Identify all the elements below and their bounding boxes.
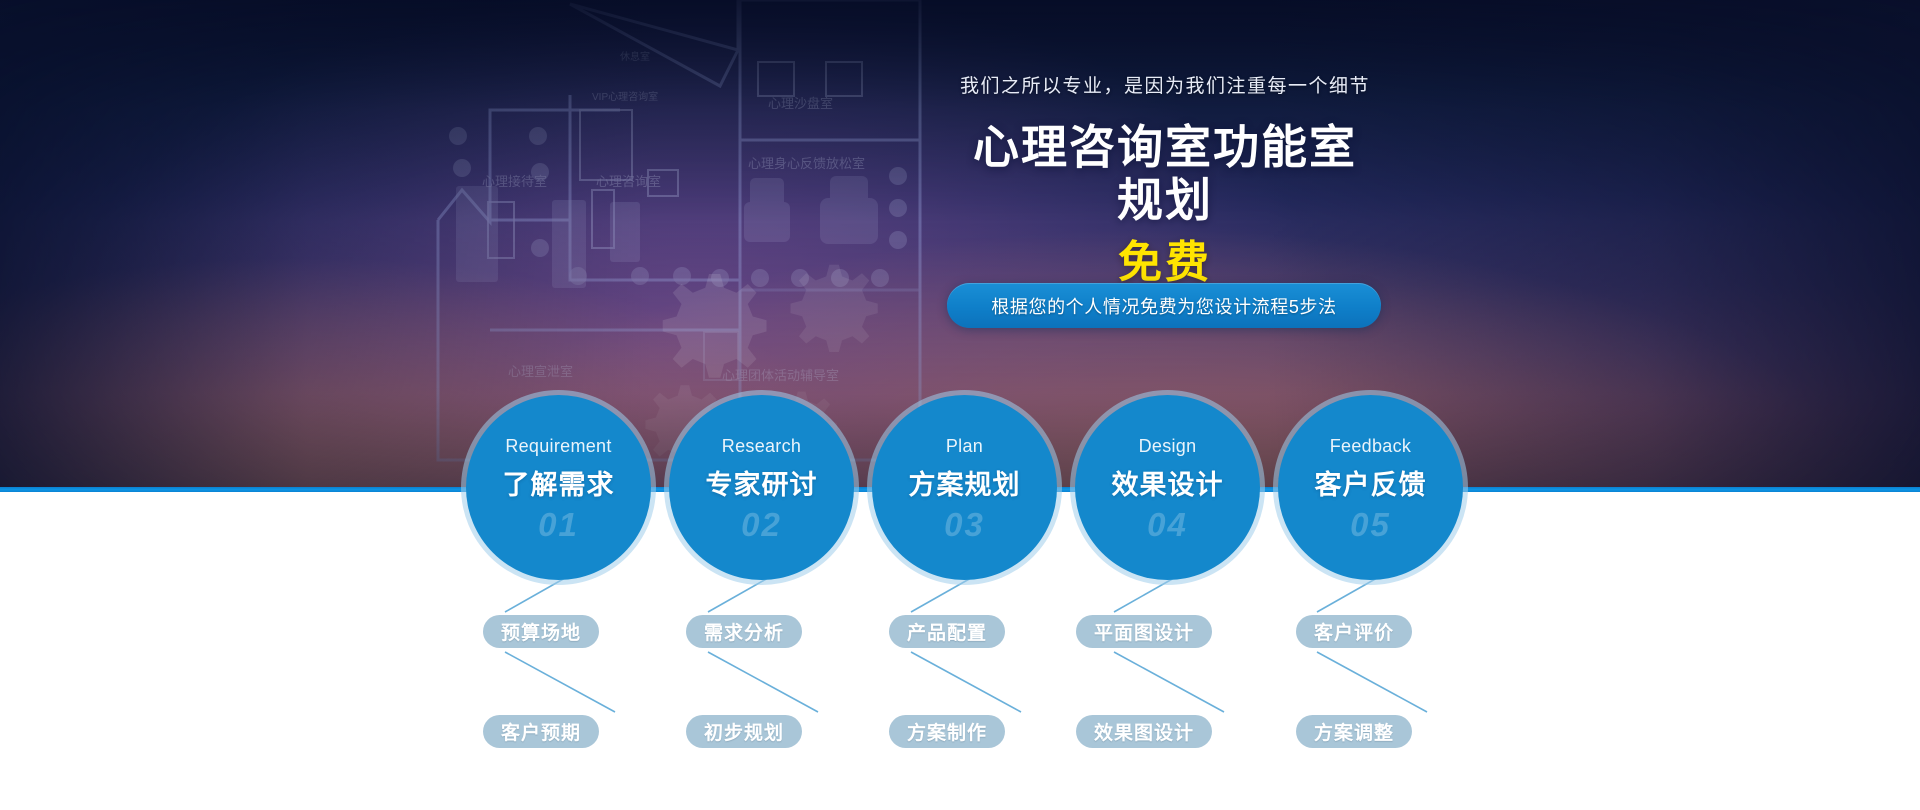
- step-en-label: Feedback: [1330, 436, 1411, 457]
- step-circle-2[interactable]: Research 专家研讨 02: [669, 395, 854, 580]
- step-4-tag-1[interactable]: 平面图设计: [1076, 615, 1212, 648]
- step-3-tag-2[interactable]: 方案制作: [889, 715, 1005, 748]
- step-en-label: Design: [1139, 436, 1197, 457]
- step-circle-4[interactable]: Design 效果设计 04: [1075, 395, 1260, 580]
- step-circle-1[interactable]: Requirement 了解需求 01: [466, 395, 651, 580]
- step-cn-label: 专家研讨: [706, 463, 818, 502]
- step-5-tag-2[interactable]: 方案调整: [1296, 715, 1412, 748]
- step-cn-label: 效果设计: [1112, 463, 1224, 502]
- step-number: 04: [1147, 506, 1188, 544]
- step-circle-3[interactable]: Plan 方案规划 03: [872, 395, 1057, 580]
- step-4: Design 效果设计 04: [1075, 395, 1260, 580]
- step-number: 03: [944, 506, 985, 544]
- step-1-tag-1[interactable]: 预算场地: [483, 615, 599, 648]
- step-5-tag-1[interactable]: 客户评价: [1296, 615, 1412, 648]
- step-3: Plan 方案规划 03: [872, 395, 1057, 580]
- step-number: 01: [538, 506, 579, 544]
- step-circle-5[interactable]: Feedback 客户反馈 05: [1278, 395, 1463, 580]
- step-2-tag-2[interactable]: 初步规划: [686, 715, 802, 748]
- step-number: 05: [1350, 506, 1391, 544]
- step-1: Requirement 了解需求 01: [466, 395, 651, 580]
- step-cn-label: 客户反馈: [1315, 463, 1427, 502]
- step-1-tag-2[interactable]: 客户预期: [483, 715, 599, 748]
- step-en-label: Plan: [946, 436, 983, 457]
- step-2: Research 专家研讨 02: [669, 395, 854, 580]
- banner-stage: 心理接待室 心理咨询室 心理沙盘室 心理身心反馈放松室 心理宣泄室 心理团体活动…: [0, 0, 1920, 810]
- process-steps: Requirement 了解需求 01 预算场地 客户预期 Research 专…: [0, 0, 1920, 810]
- step-5: Feedback 客户反馈 05: [1278, 395, 1463, 580]
- step-cn-label: 方案规划: [909, 463, 1021, 502]
- step-en-label: Requirement: [505, 436, 611, 457]
- step-3-tag-1[interactable]: 产品配置: [889, 615, 1005, 648]
- step-number: 02: [741, 506, 782, 544]
- step-4-tag-2[interactable]: 效果图设计: [1076, 715, 1212, 748]
- step-cn-label: 了解需求: [503, 463, 615, 502]
- step-en-label: Research: [722, 436, 801, 457]
- step-2-tag-1[interactable]: 需求分析: [686, 615, 802, 648]
